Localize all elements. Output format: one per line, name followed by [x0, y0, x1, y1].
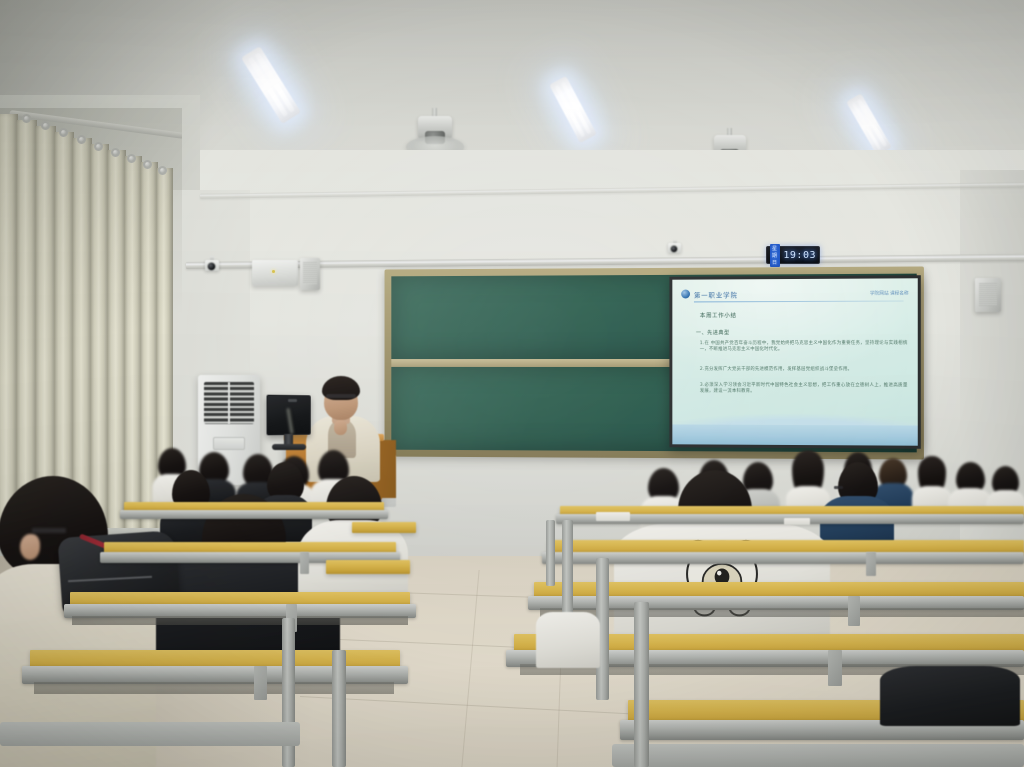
- desk-leg: [332, 650, 346, 767]
- seat-back: [0, 722, 300, 746]
- desk-bracket: [848, 596, 860, 626]
- paper-sheet: [784, 518, 810, 525]
- led-wall-clock: 星期日 19:03: [766, 246, 820, 264]
- desk-bracket: [866, 552, 876, 576]
- air-conditioner-vent-divider: [228, 382, 230, 424]
- slide-header-note: 学院网站 课程名称: [870, 290, 909, 296]
- classroom-photo: 星期日 19:03 第一职业学院 学院网站 课程名称 本周工作小结 一、先进典型…: [0, 0, 1024, 767]
- wall-speaker-left: [300, 258, 320, 290]
- wall-speaker-right: [975, 278, 1001, 312]
- monitor-brand-logo: [288, 399, 297, 402]
- desk-under-edge: [72, 616, 408, 625]
- monitor-stand-base: [272, 444, 306, 450]
- student-glasses: [32, 528, 66, 533]
- desk-top: [352, 522, 416, 533]
- slide-paragraph: 3.必须深入学习领会习近平新时代中国特色社会主义思想，把工作重心放在立德树人上，…: [700, 383, 908, 396]
- student: [880, 666, 1020, 726]
- desk-rail: [542, 552, 1024, 564]
- slide-section-heading: 一、先进典型: [696, 329, 730, 336]
- wall-equipment-box: [252, 260, 298, 286]
- slide-paragraph: 2.充分发挥广大党员干部的先进模范作用，发挥基层党组织战斗堡垒作用。: [700, 367, 908, 374]
- paper-sheet: [596, 512, 630, 521]
- slide-footer-band: [672, 424, 917, 445]
- slide-university-name: 第一职业学院: [694, 289, 738, 299]
- university-logo-icon: [681, 290, 690, 299]
- led-clock-weekday: 星期日: [770, 244, 780, 267]
- instructor-hand: [334, 420, 347, 435]
- student-glasses: [834, 486, 843, 489]
- student-navy: [820, 462, 894, 548]
- instructor-glasses: [326, 394, 356, 398]
- desk-top: [326, 560, 410, 574]
- seat-back: [612, 744, 1024, 767]
- slide-paragraph: 1.在 中国共产党百年奋斗历程中，我党始终把马克思主义中国化作为重要任务，坚持理…: [700, 341, 908, 354]
- slide-title: 本周工作小结: [700, 311, 737, 319]
- right-wall: [960, 170, 1024, 590]
- desk-bracket: [828, 650, 842, 686]
- equipment-box-led: [272, 270, 275, 273]
- led-clock-time: 19:03: [783, 250, 816, 261]
- desk-leg: [546, 520, 555, 586]
- student: [536, 612, 600, 668]
- security-camera-left: [202, 256, 222, 276]
- desk-bracket: [300, 552, 309, 574]
- air-conditioner-control-panel: [213, 437, 245, 450]
- projection-screen: 第一职业学院 学院网站 课程名称 本周工作小结 一、先进典型 1.在 中国共产党…: [669, 275, 920, 449]
- desk-rail: [120, 510, 388, 519]
- security-camera-front: [666, 240, 684, 258]
- desk-bracket: [254, 666, 267, 700]
- lecture-slide: 第一职业学院 学院网站 课程名称 本周工作小结 一、先进典型 1.在 中国共产党…: [672, 278, 917, 445]
- student: [298, 476, 408, 596]
- desk-leg: [634, 602, 649, 767]
- student-ear: [20, 534, 40, 560]
- desk-under-edge: [540, 608, 1024, 617]
